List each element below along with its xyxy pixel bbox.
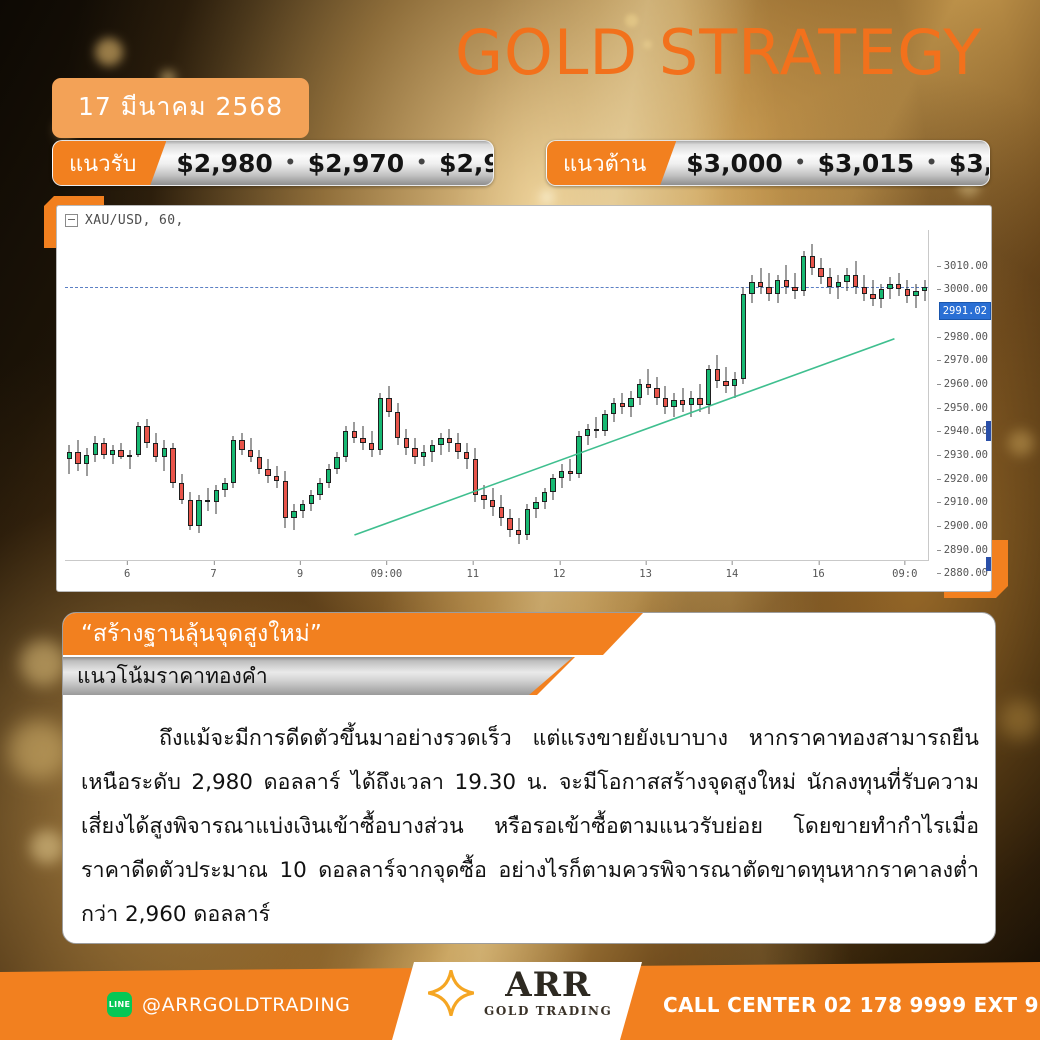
chart-symbol-label: XAU/USD, 60, — [85, 213, 184, 228]
price-axis-tick: 2930.00 — [944, 449, 988, 461]
bullet-separator-icon: • — [283, 155, 298, 172]
time-axis-tick: 09:0 — [892, 568, 917, 580]
time-axis-tick: 11 — [466, 568, 479, 580]
chart-header: XAU/USD, 60, — [65, 213, 184, 228]
brand-tagline: GOLD TRADING — [484, 1005, 612, 1017]
analysis-paragraph: ถึงแม้จะมีการดีดตัวขึ้นมาอย่างรวดเร็ว แต… — [81, 717, 979, 937]
price-axis-tick: 2890.00 — [944, 544, 988, 556]
price-axis-tick: 2910.00 — [944, 496, 988, 508]
time-axis-tick: 14 — [726, 568, 739, 580]
axis-marker — [986, 557, 991, 571]
support-label: แนวรับ — [53, 141, 166, 185]
support-levels-bar: แนวรับ $2,980 • $2,970 • $2,960 — [52, 140, 494, 186]
brand-text: ARR GOLD TRADING — [484, 968, 612, 1017]
line-app-icon[interactable]: LINE — [107, 992, 132, 1017]
support-value-2: $2,970 — [308, 149, 404, 178]
price-axis-tick: 2980.00 — [944, 331, 988, 343]
time-axis-tick: 09:00 — [371, 568, 403, 580]
bullet-separator-icon: • — [414, 155, 429, 172]
resistance-value-1: $3,000 — [686, 149, 782, 178]
bullet-separator-icon: • — [924, 155, 939, 172]
resistance-value-2: $3,015 — [818, 149, 914, 178]
time-axis-tick: 16 — [812, 568, 825, 580]
price-axis-tick: 2940.00 — [944, 425, 988, 437]
date-badge: 17 มีนาคม 2568 — [52, 78, 309, 138]
price-chart-card: XAU/USD, 60, 3010.003000.002980.002970.0… — [56, 205, 992, 592]
page-title: GOLD STRATEGY — [455, 22, 1040, 84]
analysis-subtitle: แนวโน้มราคาทองคำ — [63, 657, 587, 695]
brand-name: ARR — [505, 968, 591, 1002]
poster-root: GOLD STRATEGY 17 มีนาคม 2568 แนวรับ $2,9… — [0, 0, 1040, 1040]
price-axis-tick: 2920.00 — [944, 473, 988, 485]
price-axis-tick: 2960.00 — [944, 378, 988, 390]
price-axis-tick: 2900.00 — [944, 520, 988, 532]
time-axis-line — [65, 560, 929, 561]
trendline — [65, 230, 929, 561]
minus-box-icon[interactable] — [65, 214, 78, 227]
resistance-value-3: $3,020 — [949, 149, 990, 178]
resistance-label: แนวต้าน — [547, 141, 676, 185]
price-axis-tick: 3010.00 — [944, 260, 988, 272]
analysis-panel: “สร้างฐานลุ้นจุดสูงใหม่” แนวโน้มราคาทองค… — [62, 612, 996, 944]
support-value-3: $2,960 — [439, 149, 494, 178]
time-axis-tick: 13 — [639, 568, 652, 580]
time-axis-tick: 9 — [297, 568, 303, 580]
time-axis-tick: 7 — [210, 568, 216, 580]
resistance-levels-bar: แนวต้าน $3,000 • $3,015 • $3,020 — [546, 140, 990, 186]
candlestick-plot — [65, 230, 929, 561]
price-axis: 3010.003000.002980.002970.002960.002950.… — [928, 230, 991, 561]
resistance-values: $3,000 • $3,015 • $3,020 — [676, 141, 990, 185]
brand-logo: ARR GOLD TRADING — [428, 968, 612, 1017]
time-axis-tick: 12 — [553, 568, 566, 580]
support-value-1: $2,980 — [176, 149, 272, 178]
diamond-icon — [428, 970, 474, 1016]
time-axis-tick: 6 — [124, 568, 130, 580]
bullet-separator-icon: • — [793, 155, 808, 172]
price-axis-tick: 2950.00 — [944, 402, 988, 414]
last-price-tag: 2991.02 — [939, 302, 991, 320]
support-values: $2,980 • $2,970 • $2,960 — [166, 141, 494, 185]
call-center-text: CALL CENTER 02 178 9999 EXT 9 — [663, 992, 1039, 1018]
line-icon-label: LINE — [109, 1001, 130, 1009]
price-axis-tick: 2880.00 — [944, 567, 988, 579]
axis-marker — [986, 421, 991, 441]
line-account-id[interactable]: @ARRGOLDTRADING — [142, 992, 351, 1017]
price-axis-tick: 2970.00 — [944, 354, 988, 366]
price-axis-tick: 3000.00 — [944, 283, 988, 295]
analysis-headline: “สร้างฐานลุ้นจุดสูงใหม่” — [63, 613, 661, 655]
